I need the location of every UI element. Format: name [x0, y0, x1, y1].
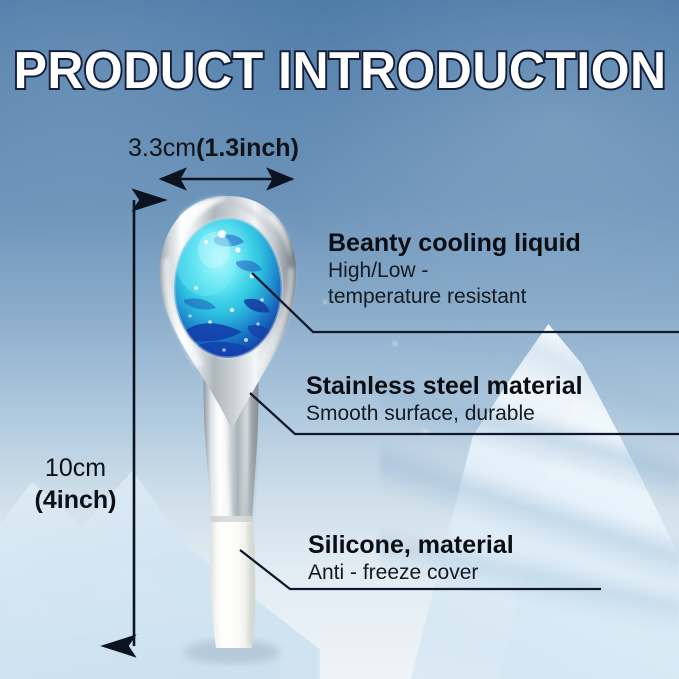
callout-title: Beanty cooling liquid — [328, 228, 581, 258]
height-imperial: (4inch) — [18, 484, 133, 516]
grip-top-edge — [211, 516, 253, 522]
callout-silicone: Silicone, material Anti - freeze cover — [308, 530, 514, 586]
height-dimension-label: 10cm (4inch) — [18, 452, 133, 516]
width-dimension-label: 3.3cm(1.3inch) — [128, 133, 299, 163]
callout-stainless-steel: Stainless steel material Smooth surface,… — [306, 371, 583, 427]
callout-subtitle-line1: Anti - freeze cover — [308, 560, 514, 586]
infographic-canvas: PRODUCT INTRODUCTION 3.3cm(1.3inch) 10cm… — [0, 0, 679, 679]
page-title: PRODUCT INTRODUCTION — [14, 42, 666, 100]
height-metric: 10cm — [45, 454, 106, 482]
callout-title: Stainless steel material — [306, 371, 583, 401]
width-imperial: (1.3inch) — [196, 134, 299, 162]
callout-title: Silicone, material — [308, 530, 514, 560]
width-metric: 3.3cm — [128, 134, 196, 162]
callout-subtitle-line2: temperature resistant — [328, 284, 581, 310]
callout-cooling-liquid: Beanty cooling liquid High/Low - tempera… — [328, 228, 581, 310]
callout-subtitle-line1: Smooth surface, durable — [306, 401, 583, 427]
callout-subtitle-line1: High/Low - — [328, 258, 581, 284]
